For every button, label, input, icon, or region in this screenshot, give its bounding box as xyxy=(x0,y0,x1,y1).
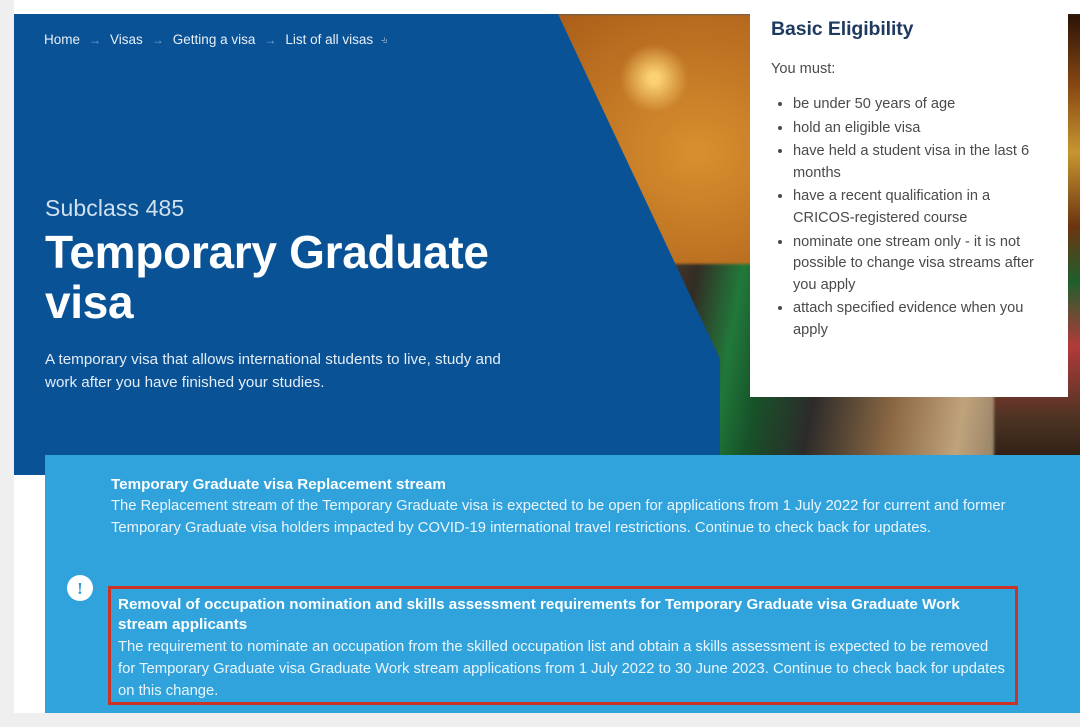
alert-text: The Replacement stream of the Temporary … xyxy=(111,496,1071,540)
alert-text: The requirement to nominate an occupatio… xyxy=(118,637,1005,702)
exclamation-circle-icon: ! xyxy=(67,575,93,601)
breadcrumb-item-getting-a-visa[interactable]: Getting a visa xyxy=(173,32,256,47)
breadcrumb-item-home[interactable]: Home xyxy=(44,32,80,47)
breadcrumb-item-list-of-all-visas[interactable]: List of all visas xyxy=(285,32,373,47)
breadcrumb-separator-icon: → xyxy=(264,34,276,46)
breadcrumb-item-visas[interactable]: Visas xyxy=(110,32,143,47)
eligibility-list: be under 50 years of age hold an eligibl… xyxy=(771,94,1046,342)
page-gutter-left xyxy=(0,0,14,727)
breadcrumb-separator-icon: → xyxy=(89,34,101,46)
eligibility-lead: You must: xyxy=(771,61,1046,77)
alert-heading: Removal of occupation nomination and ski… xyxy=(118,595,1005,635)
page-gutter-bottom xyxy=(0,713,1080,727)
eligibility-title: Basic Eligibility xyxy=(771,18,1046,41)
visa-subclass-label: Subclass 485 xyxy=(45,195,545,222)
page-description: A temporary visa that allows internation… xyxy=(45,349,525,395)
page-root: Home → Visas → Getting a visa → List of … xyxy=(0,0,1080,727)
alert-block-replacement-stream: Temporary Graduate visa Replacement stre… xyxy=(111,475,1071,540)
basic-eligibility-card: Basic Eligibility You must: be under 50 … xyxy=(750,0,1068,397)
list-item: hold an eligible visa xyxy=(793,118,1046,140)
hero-text-block: Subclass 485 Temporary Graduate visa A t… xyxy=(45,195,545,395)
page-title: Temporary Graduate visa xyxy=(45,228,545,327)
list-item: have a recent qualification in a CRICOS-… xyxy=(793,186,1046,229)
list-item: be under 50 years of age xyxy=(793,94,1046,116)
list-item: nominate one stream only - it is not pos… xyxy=(793,232,1046,297)
alert-block-occupation-removal: Removal of occupation nomination and ski… xyxy=(108,586,1018,705)
list-item: attach specified evidence when you apply xyxy=(793,298,1046,341)
alert-heading: Temporary Graduate visa Replacement stre… xyxy=(111,475,1071,495)
breadcrumb-separator-icon: → xyxy=(152,34,164,46)
list-item: have held a student visa in the last 6 m… xyxy=(793,141,1046,184)
breadcrumb: Home → Visas → Getting a visa → List of … xyxy=(44,32,389,47)
